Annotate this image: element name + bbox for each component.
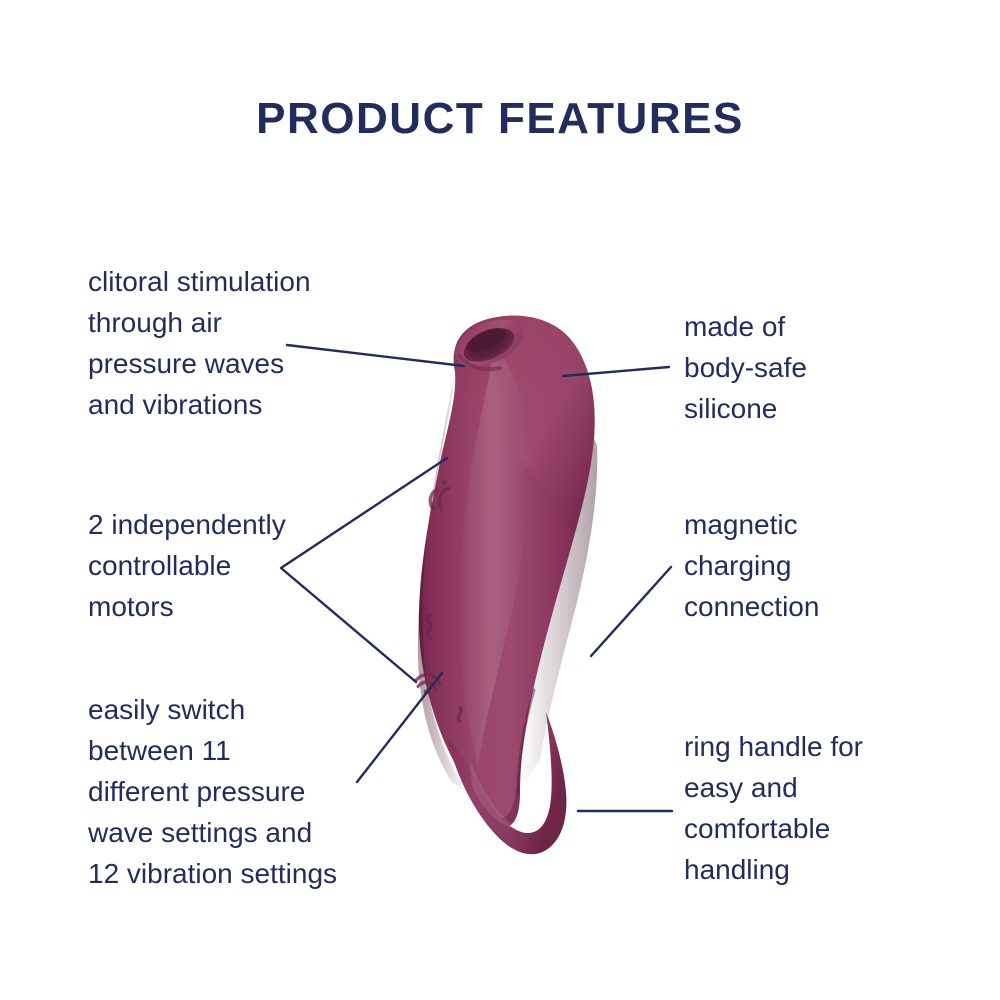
leader-line-independent-motors — [281, 458, 447, 682]
leader-lines-group — [0, 0, 1000, 1000]
leader-line-clitoral-stimulation — [287, 345, 464, 366]
product-features-infographic: PRODUCT FEATURES — [0, 0, 1000, 1000]
leader-line-pressure-wave-settings — [357, 673, 442, 782]
leader-line-body-safe-silicone — [563, 367, 669, 376]
leader-line-magnetic-charging — [591, 567, 671, 656]
